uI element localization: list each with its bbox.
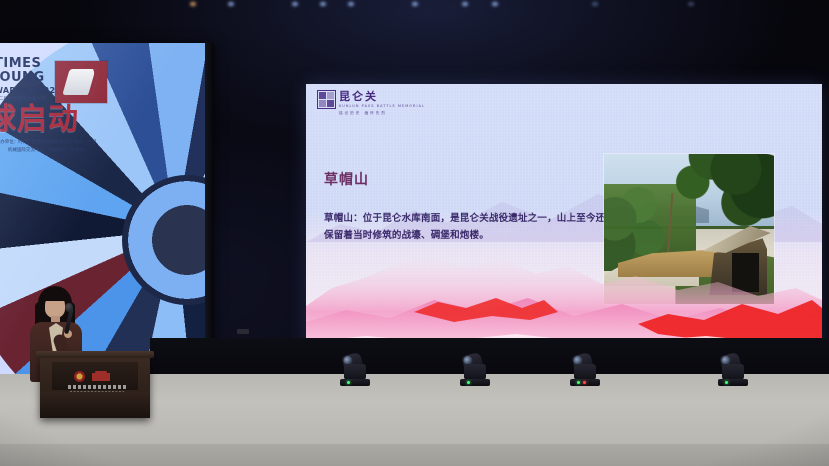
light-base bbox=[718, 379, 748, 386]
light-yoke bbox=[574, 364, 596, 380]
stage-floor-front-edge bbox=[0, 444, 829, 466]
ceiling-light-8 bbox=[492, 2, 498, 6]
podium-text-line-1 bbox=[68, 385, 128, 389]
ceiling-light-10 bbox=[688, 2, 694, 6]
ceiling-light-3 bbox=[292, 2, 298, 6]
ceiling-light-1 bbox=[190, 2, 196, 6]
moving-head-light-1 bbox=[340, 352, 370, 386]
vent-switch-plate bbox=[237, 329, 249, 334]
ceiling-light-7 bbox=[462, 2, 468, 6]
light-base bbox=[340, 379, 370, 386]
ceiling-light-2 bbox=[228, 2, 234, 6]
university-emblem bbox=[74, 371, 85, 382]
light-status-led bbox=[725, 381, 728, 384]
ceiling-light-5 bbox=[348, 2, 354, 6]
light-yoke bbox=[344, 364, 366, 380]
ceiling-light-row bbox=[0, 0, 829, 22]
photo-tree-canopy bbox=[669, 154, 774, 238]
light-base bbox=[460, 379, 490, 386]
seal-logo-icon bbox=[317, 90, 336, 109]
moving-head-light-2 bbox=[460, 352, 490, 386]
light-status-led bbox=[347, 381, 350, 384]
light-status-led-red bbox=[583, 381, 586, 384]
moving-head-light-4 bbox=[718, 352, 748, 386]
podium bbox=[40, 356, 150, 418]
light-status-led bbox=[467, 381, 470, 384]
moving-head-light-3 bbox=[570, 352, 600, 386]
ceiling-light-9 bbox=[592, 2, 598, 6]
presentation-screen: 昆仑关 KUNLUN PASS BATTLE MEMORIAL 铭记历史 缅怀先… bbox=[306, 84, 822, 358]
slide-logo: 昆仑关 KUNLUN PASS BATTLE MEMORIAL 铭记历史 缅怀先… bbox=[317, 90, 425, 116]
slide-title: 草帽山 bbox=[324, 169, 369, 189]
light-yoke bbox=[722, 364, 744, 380]
podium-nameplate bbox=[52, 362, 138, 390]
auditorium-stage-scene: TIMES YOUNG AWARDS 2022-2023 第二届时代青年创意大赛… bbox=[0, 0, 829, 466]
slide-logo-wordmark: 昆仑关 bbox=[339, 90, 425, 103]
podium-top bbox=[36, 351, 154, 358]
ceiling-light-6 bbox=[412, 2, 418, 6]
slide-logo-subline-2: 铭记历史 缅怀先烈 bbox=[339, 111, 425, 116]
slide-logo-subline: KUNLUN PASS BATTLE MEMORIAL bbox=[339, 104, 425, 108]
university-wordmark bbox=[92, 371, 110, 381]
presenter-fringe bbox=[43, 292, 67, 301]
light-status-led bbox=[577, 381, 580, 384]
light-yoke bbox=[464, 364, 486, 380]
microphone-icon bbox=[65, 303, 73, 312]
ceiling-light-4 bbox=[320, 2, 326, 6]
podium-body bbox=[40, 392, 150, 418]
